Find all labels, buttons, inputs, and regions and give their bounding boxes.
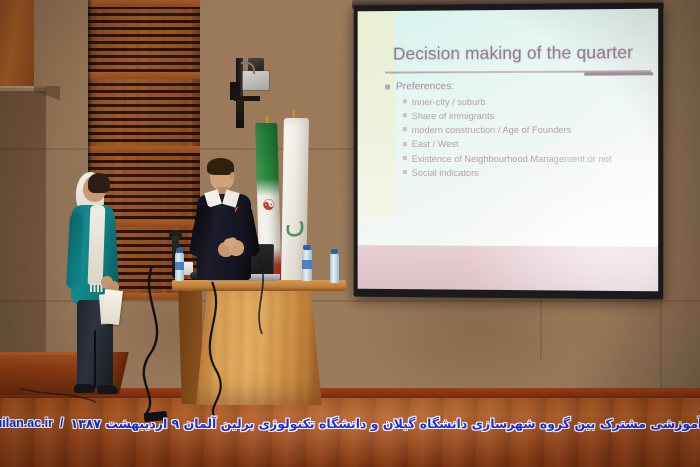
slide-bullet-level2: Existence of Neighbourhood Management or… — [403, 153, 657, 165]
caption-url: www.guilan.ac.ir — [0, 416, 53, 430]
bullet-text: modern construction / Age of Founders — [412, 124, 572, 136]
bullet-square-icon — [403, 113, 407, 117]
bullet-square-icon — [403, 99, 407, 103]
slide-title-rule-accent — [584, 72, 653, 75]
bullet-text: Preferences: — [396, 80, 454, 93]
acoustic-band — [88, 0, 200, 7]
bullet-square-icon — [403, 170, 407, 174]
iran-flag-emblem-icon: ☯ — [262, 196, 275, 216]
bullet-square-icon — [403, 156, 407, 160]
attendee-shoe-left — [74, 384, 95, 393]
wall-joint — [540, 300, 542, 360]
bullet-square-icon — [403, 142, 407, 146]
slide-bullet-level2: Social indicators — [403, 167, 657, 179]
caption-separator: / — [60, 416, 63, 430]
caption-bar: کارگاه آموزشی مشترک بین گروه شهرسازی دان… — [0, 409, 700, 437]
slide-bullet-level1: Preferences: — [385, 79, 657, 93]
acoustic-panel-upper-left — [0, 0, 34, 86]
photo-scene: Decision making of the quarter Preferenc… — [0, 0, 700, 467]
bullet-text: East / West — [412, 138, 459, 150]
bullet-text: Inner-city / suburb — [412, 96, 486, 108]
acoustic-band — [88, 146, 200, 153]
slide-bullet-level2: Inner-city / suburb — [403, 95, 657, 108]
slide-bullet-level2: modern construction / Age of Founders — [403, 124, 657, 136]
slide-bullet-level2: Share of immigrants — [403, 109, 657, 122]
bullet-text: Share of immigrants — [412, 110, 495, 122]
attendee-leg-separation — [94, 330, 96, 388]
camera-column — [236, 100, 244, 128]
bullet-square-icon — [403, 127, 407, 131]
slide-bullet-list: Preferences: Inner-city / suburb Share o… — [385, 79, 657, 181]
headscarf-drape — [88, 205, 106, 285]
slide-title: Decision making of the quarter — [393, 42, 655, 65]
camera-cable — [241, 62, 255, 74]
bullet-square-icon — [385, 84, 390, 89]
attendee-shoe-right — [97, 385, 118, 394]
caption-text-fa: کارگاه آموزشی مشترک بین گروه شهرسازی دان… — [70, 416, 700, 431]
attendee-hair — [88, 173, 110, 193]
wall-recess-corner — [34, 86, 60, 108]
acoustic-band — [88, 72, 200, 79]
bullet-text: Social indicators — [412, 167, 479, 179]
slide-bullet-level2: East / West — [403, 138, 657, 150]
bullet-text: Existence of Neighbourhood Management or… — [412, 153, 612, 165]
presenter-ear — [230, 172, 235, 179]
